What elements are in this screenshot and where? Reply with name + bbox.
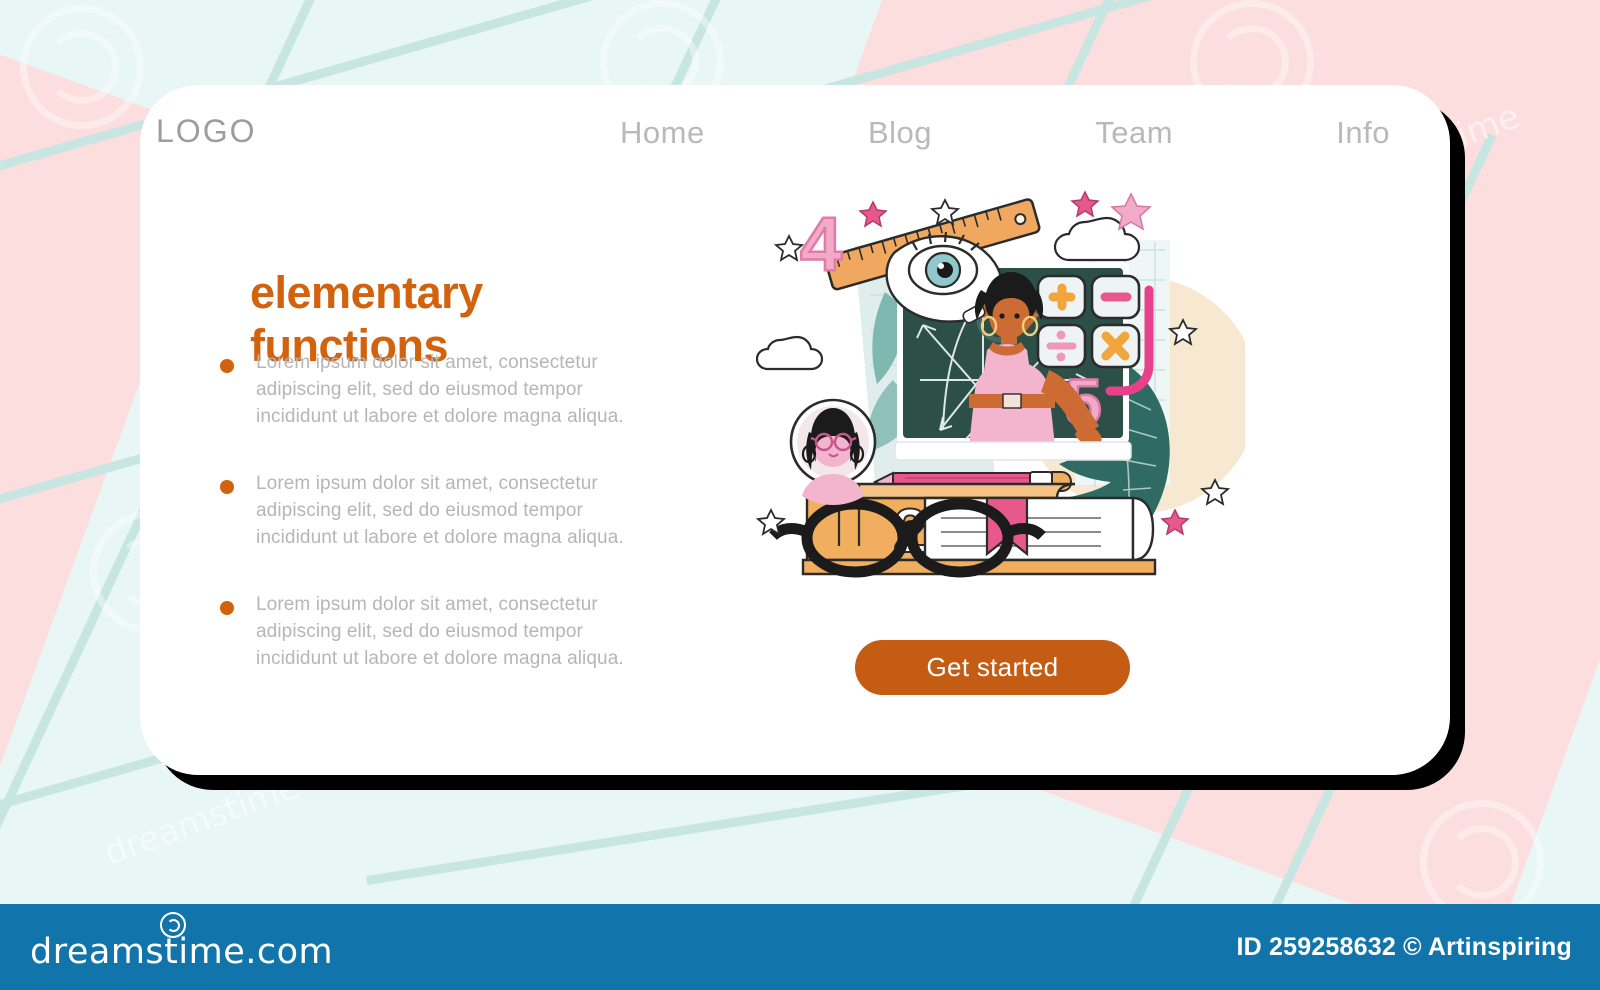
list-item-text: Lorem ipsum dolor sit amet, consectetur … bbox=[256, 592, 640, 673]
headline-line-1: elementary bbox=[250, 267, 483, 318]
get-started-button[interactable]: Get started bbox=[855, 640, 1130, 695]
number-four-text: 4 bbox=[800, 202, 842, 287]
cloud-icon bbox=[757, 337, 822, 369]
nav-item-team[interactable]: Team bbox=[1095, 115, 1173, 151]
list-item-text: Lorem ipsum dolor sit amet, consectetur … bbox=[256, 471, 640, 552]
number-four: 4 bbox=[800, 202, 842, 287]
nav-item-info[interactable]: Info bbox=[1336, 115, 1390, 151]
hero-card: LOGO Home Blog Team Info elementary func… bbox=[140, 85, 1450, 775]
list-item: Lorem ipsum dolor sit amet, consectetur … bbox=[220, 592, 640, 673]
logo[interactable]: LOGO bbox=[156, 113, 256, 150]
hero-illustration: 4 bbox=[745, 180, 1245, 620]
feature-list: Lorem ipsum dolor sit amet, consectetur … bbox=[220, 350, 640, 713]
nav-item-home[interactable]: Home bbox=[620, 115, 705, 151]
main-navigation: Home Blog Team Info bbox=[620, 115, 1390, 151]
list-item-text: Lorem ipsum dolor sit amet, consectetur … bbox=[256, 350, 640, 431]
page-root: dreamstime dreamstime dreamstime LOGO Ho… bbox=[0, 0, 1600, 990]
image-credit: ID 259258632 © Artinspiring bbox=[1236, 933, 1572, 962]
list-item: Lorem ipsum dolor sit amet, consectetur … bbox=[220, 350, 640, 431]
dreamstime-logo: dreamstime.com bbox=[30, 932, 333, 972]
list-item: Lorem ipsum dolor sit amet, consectetur … bbox=[220, 471, 640, 552]
nav-item-blog[interactable]: Blog bbox=[868, 115, 932, 151]
dreamstime-spiral-icon bbox=[160, 912, 186, 938]
bullet-dot-icon bbox=[220, 601, 234, 615]
bullet-dot-icon bbox=[220, 480, 234, 494]
bullet-dot-icon bbox=[220, 359, 234, 373]
